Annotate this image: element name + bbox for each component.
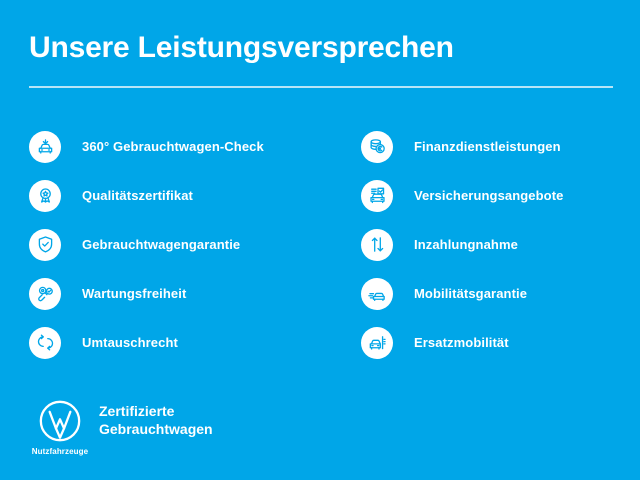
title-divider [29, 86, 613, 88]
coins-euro-icon [361, 131, 393, 163]
feature-label: Inzahlungnahme [414, 237, 518, 252]
feature-label: Versicherungsangebote [414, 188, 563, 203]
feature-label: Qualitätszertifikat [82, 188, 193, 203]
car-replacement-icon [361, 327, 393, 359]
feature-item[interactable]: Ersatzmobilität [361, 318, 631, 367]
brand-subline: Nutzfahrzeuge [29, 447, 91, 456]
feature-item[interactable]: Inzahlungnahme [361, 220, 631, 269]
feature-label: Gebrauchtwagengarantie [82, 237, 240, 252]
feature-item[interactable]: Gebrauchtwagengarantie [29, 220, 329, 269]
brand-block: Nutzfahrzeuge Zertifizierte Gebrauchtwag… [29, 398, 213, 456]
vw-logo-icon [29, 398, 91, 444]
feature-label: Ersatzmobilität [414, 335, 509, 350]
page-title: Unsere Leistungsversprechen [29, 30, 454, 66]
feature-item[interactable]: Mobilitätsgarantie [361, 269, 631, 318]
brand-claim-line1: Zertifizierte [99, 402, 213, 420]
exchange-arrows-icon [29, 327, 61, 359]
feature-label: Umtauschrecht [82, 335, 178, 350]
feature-label: Mobilitätsgarantie [414, 286, 527, 301]
feature-label: 360° Gebrauchtwagen-Check [82, 139, 264, 154]
car-speed-icon [361, 278, 393, 310]
feature-item[interactable]: 360° Gebrauchtwagen-Check [29, 122, 329, 171]
feature-item[interactable]: Wartungsfreiheit [29, 269, 329, 318]
award-rosette-icon [29, 180, 61, 212]
feature-item[interactable]: Umtauschrecht [29, 318, 329, 367]
feature-item[interactable]: Qualitätszertifikat [29, 171, 329, 220]
feature-list-right: Finanzdienstleistungen Versicherungsange… [361, 122, 631, 367]
car-inspection-icon [29, 131, 61, 163]
car-document-check-icon [361, 180, 393, 212]
feature-label: Wartungsfreiheit [82, 286, 186, 301]
brand-claim-line2: Gebrauchtwagen [99, 420, 213, 438]
wrench-gear-check-icon [29, 278, 61, 310]
brand-claim: Zertifizierte Gebrauchtwagen [99, 402, 213, 438]
up-down-arrows-icon [361, 229, 393, 261]
feature-label: Finanzdienstleistungen [414, 139, 561, 154]
feature-item[interactable]: Finanzdienstleistungen [361, 122, 631, 171]
promo-poster: Unsere Leistungsversprechen 360° Gebrauc… [0, 0, 640, 480]
feature-list-left: 360° Gebrauchtwagen-Check Qualitätszerti… [29, 122, 329, 367]
feature-item[interactable]: Versicherungsangebote [361, 171, 631, 220]
shield-check-icon [29, 229, 61, 261]
vw-logo-lockup: Nutzfahrzeuge [29, 398, 91, 456]
